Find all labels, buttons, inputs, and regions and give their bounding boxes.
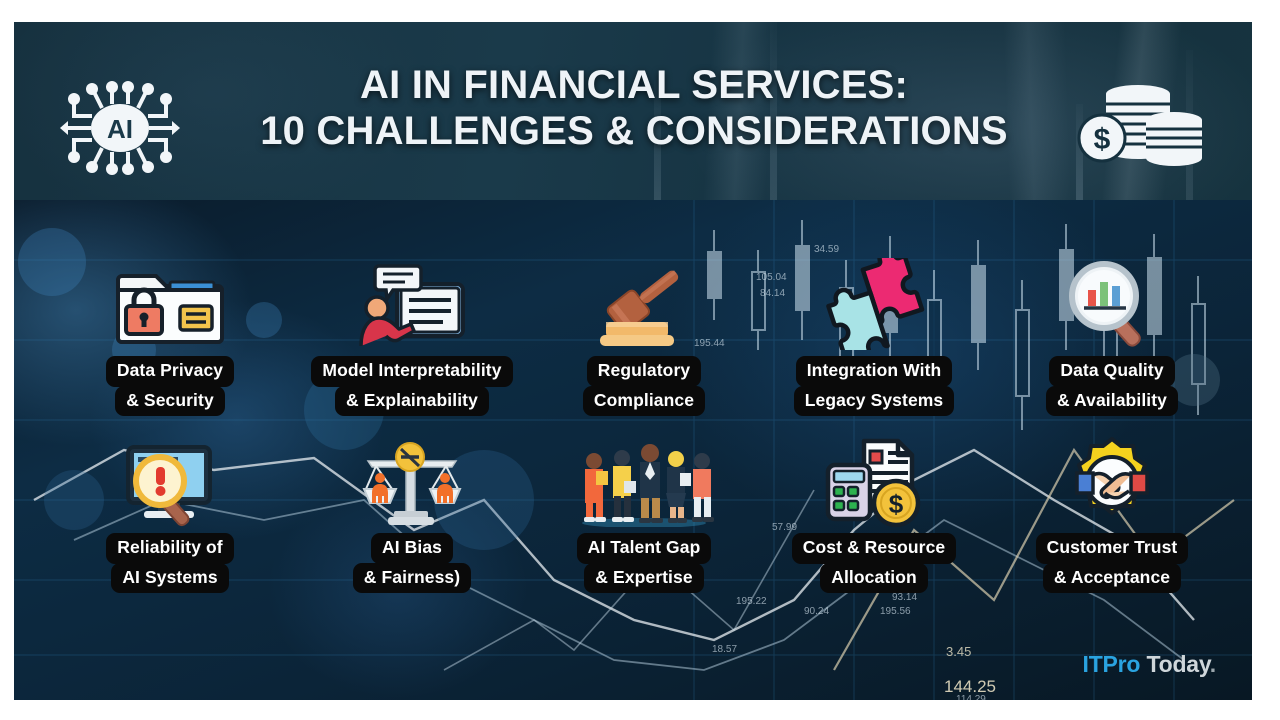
icon-container [764, 258, 984, 350]
icon-container: $ [764, 435, 984, 527]
icon-container [1002, 435, 1222, 527]
label-stack: Customer Trust & Acceptance [1002, 533, 1222, 593]
challenge-label-line-2: Legacy Systems [794, 386, 955, 417]
icon-container [534, 258, 754, 350]
puzzle-pieces-icon [822, 258, 926, 350]
challenge-label-line-1: Reliability of [106, 533, 233, 564]
challenge-label-line-2: Allocation [820, 563, 928, 594]
poster-header: AI AI IN FINANCIAL SERVICES: 10 CHALLENG… [14, 22, 1252, 200]
challenge-item-integration-legacy[interactable]: Integration With Legacy Systems [764, 258, 984, 416]
challenge-item-data-quality[interactable]: Data Quality & Availability [1002, 258, 1222, 416]
folder-lock-icon [114, 262, 226, 350]
challenges-grid: Data Privacy & Security [14, 200, 1252, 700]
poster-body: 34.59 105.04 84.14 195.44 57.99 195.22 9… [14, 200, 1252, 700]
title-line-1: AI IN FINANCIAL SERVICES: [214, 62, 1054, 108]
icon-container [60, 258, 280, 350]
label-stack: AI Bias & Fairness) [302, 533, 522, 593]
handshake-gear-icon [1065, 437, 1159, 527]
challenge-label-line-2: & Fairness) [353, 563, 471, 594]
challenge-label-line-2: AI Systems [111, 563, 228, 594]
title-line-2: 10 CHALLENGES & CONSIDERATIONS [214, 108, 1054, 154]
icon-container [534, 435, 754, 527]
challenge-label-line-2: Compliance [583, 386, 705, 417]
label-stack: Regulatory Compliance [534, 356, 754, 416]
coin-stacks-icon: $ [1076, 76, 1204, 180]
challenge-item-cost-resource[interactable]: $ Cost & Resource Allocation [764, 435, 984, 593]
label-stack: Data Quality & Availability [1002, 356, 1222, 416]
person-presenting-board-icon [357, 260, 467, 350]
monitor-alert-magnifier-icon [118, 443, 222, 527]
gavel-icon [592, 260, 696, 350]
icon-container [302, 258, 522, 350]
challenge-label-line-2: & Availability [1046, 386, 1178, 417]
challenge-label-line-2: & Acceptance [1043, 563, 1181, 594]
svg-text:$: $ [889, 489, 904, 519]
team-people-icon [574, 441, 714, 527]
poster-title: AI IN FINANCIAL SERVICES: 10 CHALLENGES … [214, 62, 1054, 155]
logo-part-today: Today [1140, 651, 1210, 677]
challenge-item-ai-talent-gap[interactable]: AI Talent Gap & Expertise [534, 435, 754, 593]
challenge-item-model-interpretability[interactable]: Model Interpretability & Explainability [302, 258, 522, 416]
label-stack: Model Interpretability & Explainability [302, 356, 522, 416]
challenge-label-line-1: Cost & Resource [792, 533, 957, 564]
challenge-label-line-1: AI Talent Gap [577, 533, 712, 564]
challenge-label-line-1: Data Privacy [106, 356, 234, 387]
challenge-item-regulatory-compliance[interactable]: Regulatory Compliance [534, 258, 754, 416]
label-stack: Reliability of AI Systems [60, 533, 280, 593]
infographic-poster: AI AI IN FINANCIAL SERVICES: 10 CHALLENG… [14, 22, 1252, 700]
icon-container [1002, 258, 1222, 350]
logo-part-itpro: ITPro [1083, 651, 1141, 677]
itpro-today-logo[interactable]: ITPro Today. [1083, 651, 1217, 678]
ai-chip-network-icon: AI [56, 76, 184, 180]
challenge-item-ai-bias[interactable]: AI Bias & Fairness) [302, 435, 522, 593]
logo-dot: . [1210, 651, 1216, 677]
challenge-item-reliability[interactable]: Reliability of AI Systems [60, 435, 280, 593]
magnifier-bar-chart-icon [1060, 258, 1164, 350]
icon-container [302, 435, 522, 527]
challenge-label-line-2: & Explainability [335, 386, 489, 417]
calculator-invoice-coin-icon: $ [822, 437, 926, 527]
challenge-label-line-1: Model Interpretability [311, 356, 512, 387]
challenge-item-customer-trust[interactable]: Customer Trust & Acceptance [1002, 435, 1222, 593]
label-stack: Cost & Resource Allocation [764, 533, 984, 593]
challenge-label-line-1: Integration With [796, 356, 953, 387]
dollar-sign-icon: $ [1094, 123, 1111, 156]
label-stack: Integration With Legacy Systems [764, 356, 984, 416]
challenge-label-line-1: AI Bias [371, 533, 453, 564]
challenge-label-line-1: Regulatory [587, 356, 701, 387]
icon-container [60, 435, 280, 527]
challenge-label-line-2: & Security [115, 386, 225, 417]
challenge-item-data-privacy[interactable]: Data Privacy & Security [60, 258, 280, 416]
challenge-label-line-1: Data Quality [1049, 356, 1174, 387]
challenge-label-line-1: Customer Trust [1036, 533, 1189, 564]
balance-scales-people-icon [360, 441, 464, 527]
label-stack: AI Talent Gap & Expertise [534, 533, 754, 593]
label-stack: Data Privacy & Security [60, 356, 280, 416]
ai-chip-label: AI [107, 114, 133, 144]
challenge-label-line-2: & Expertise [584, 563, 703, 594]
